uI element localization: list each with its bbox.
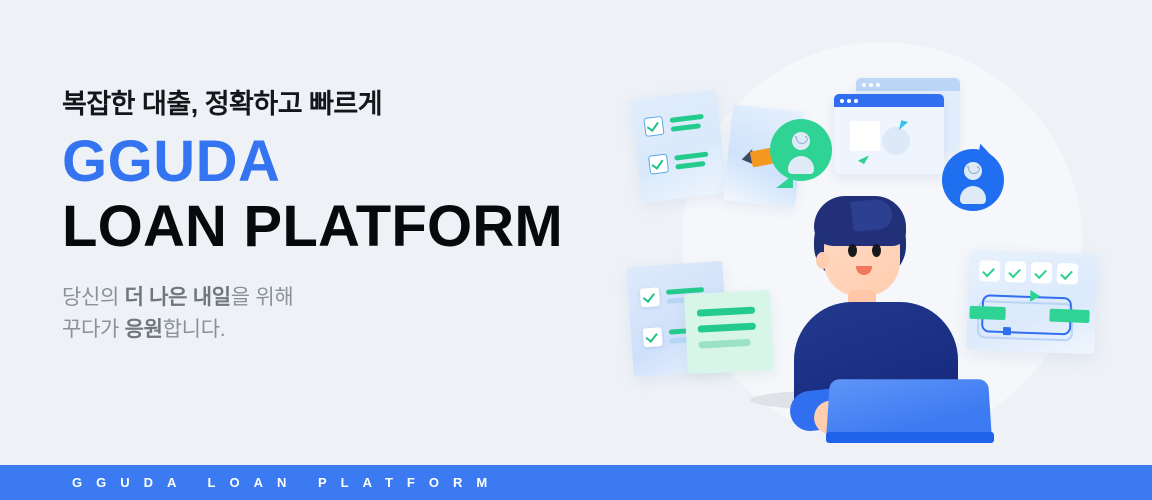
window-dot-icon: [869, 83, 873, 87]
person-eye: [872, 244, 881, 257]
mint-note-card: [684, 290, 774, 374]
hero-brand-title: GGUDA: [62, 130, 622, 195]
avatar-body-icon: [788, 156, 814, 174]
tagline-1-strong: 더 나은 내일: [125, 286, 231, 309]
chat-bubble-green: [770, 119, 832, 181]
tagline-2-prefix: 꾸다가: [62, 318, 125, 341]
text-line: [669, 113, 703, 122]
person-eye: [848, 244, 857, 257]
tagline-2-strong: 응원: [125, 318, 163, 341]
hero-illustration: [620, 24, 1130, 454]
check-icon: [1057, 263, 1079, 285]
hero-product-title: LOAN PLATFORM: [62, 195, 622, 260]
browser-titlebar: [834, 94, 944, 107]
text-line: [698, 323, 756, 333]
text-line: [674, 151, 708, 160]
laptop-base: [826, 432, 994, 443]
browser-window-front: [834, 94, 944, 174]
text-line: [697, 307, 755, 317]
cursor-icon: [899, 120, 908, 131]
check-icon: [1031, 262, 1053, 284]
check-icon: [1005, 261, 1027, 283]
flow-node: [1003, 327, 1011, 335]
checklist-lines: [674, 151, 709, 169]
browser-content: [834, 107, 944, 174]
checklist-row: [643, 111, 705, 137]
checklist-card-top-left: [630, 89, 728, 203]
text-line: [671, 123, 701, 132]
person-illustration: [780, 194, 1000, 444]
ribbon-label: GGUDA LOAN PLATFORM: [0, 475, 501, 490]
hero-tagline-line-2: 꾸다가 응원합니다.: [62, 314, 622, 347]
bubble-tail: [776, 175, 793, 188]
hero-tagline: 당신의 더 나은 내일을 위해 꾸다가 응원합니다.: [62, 282, 622, 347]
window-dot-icon: [876, 83, 880, 87]
text-line: [698, 339, 750, 349]
bubble-tail: [978, 144, 997, 160]
window-dot-icon: [847, 99, 851, 103]
tagline-1-prefix: 당신의: [62, 286, 125, 309]
checkbox-checked-icon: [643, 116, 664, 137]
hero-copy: 복잡한 대출, 정확하고 빠르게 GGUDA LOAN PLATFORM 당신의…: [62, 88, 622, 347]
window-dot-icon: [840, 99, 844, 103]
checkbox-checked-icon: [640, 287, 660, 307]
browser-titlebar: [856, 78, 960, 91]
tagline-2-suffix: 합니다.: [163, 318, 226, 341]
window-dot-icon: [854, 99, 858, 103]
checkbox-checked-icon: [643, 327, 663, 347]
ear: [816, 252, 829, 269]
flow-block: [1049, 309, 1089, 323]
checklist-row: [648, 149, 710, 175]
hero-eyebrow: 복잡한 대출, 정확하고 빠르게: [62, 88, 622, 122]
flow-arrow-icon: [1030, 290, 1040, 302]
text-line: [675, 160, 705, 169]
content-tile: [850, 121, 880, 151]
cursor-icon: [858, 152, 869, 164]
checkbox-checked-icon: [648, 154, 669, 175]
window-dot-icon: [862, 83, 866, 87]
checklist-lines: [669, 113, 704, 131]
bottom-ribbon: GGUDA LOAN PLATFORM: [0, 465, 1152, 500]
hero-tagline-line-1: 당신의 더 나은 내일을 위해: [62, 282, 622, 315]
note-lines: [697, 307, 757, 349]
tagline-1-suffix: 을 위해: [231, 286, 294, 309]
hero-banner: 복잡한 대출, 정확하고 빠르게 GGUDA LOAN PLATFORM 당신의…: [0, 0, 1152, 500]
